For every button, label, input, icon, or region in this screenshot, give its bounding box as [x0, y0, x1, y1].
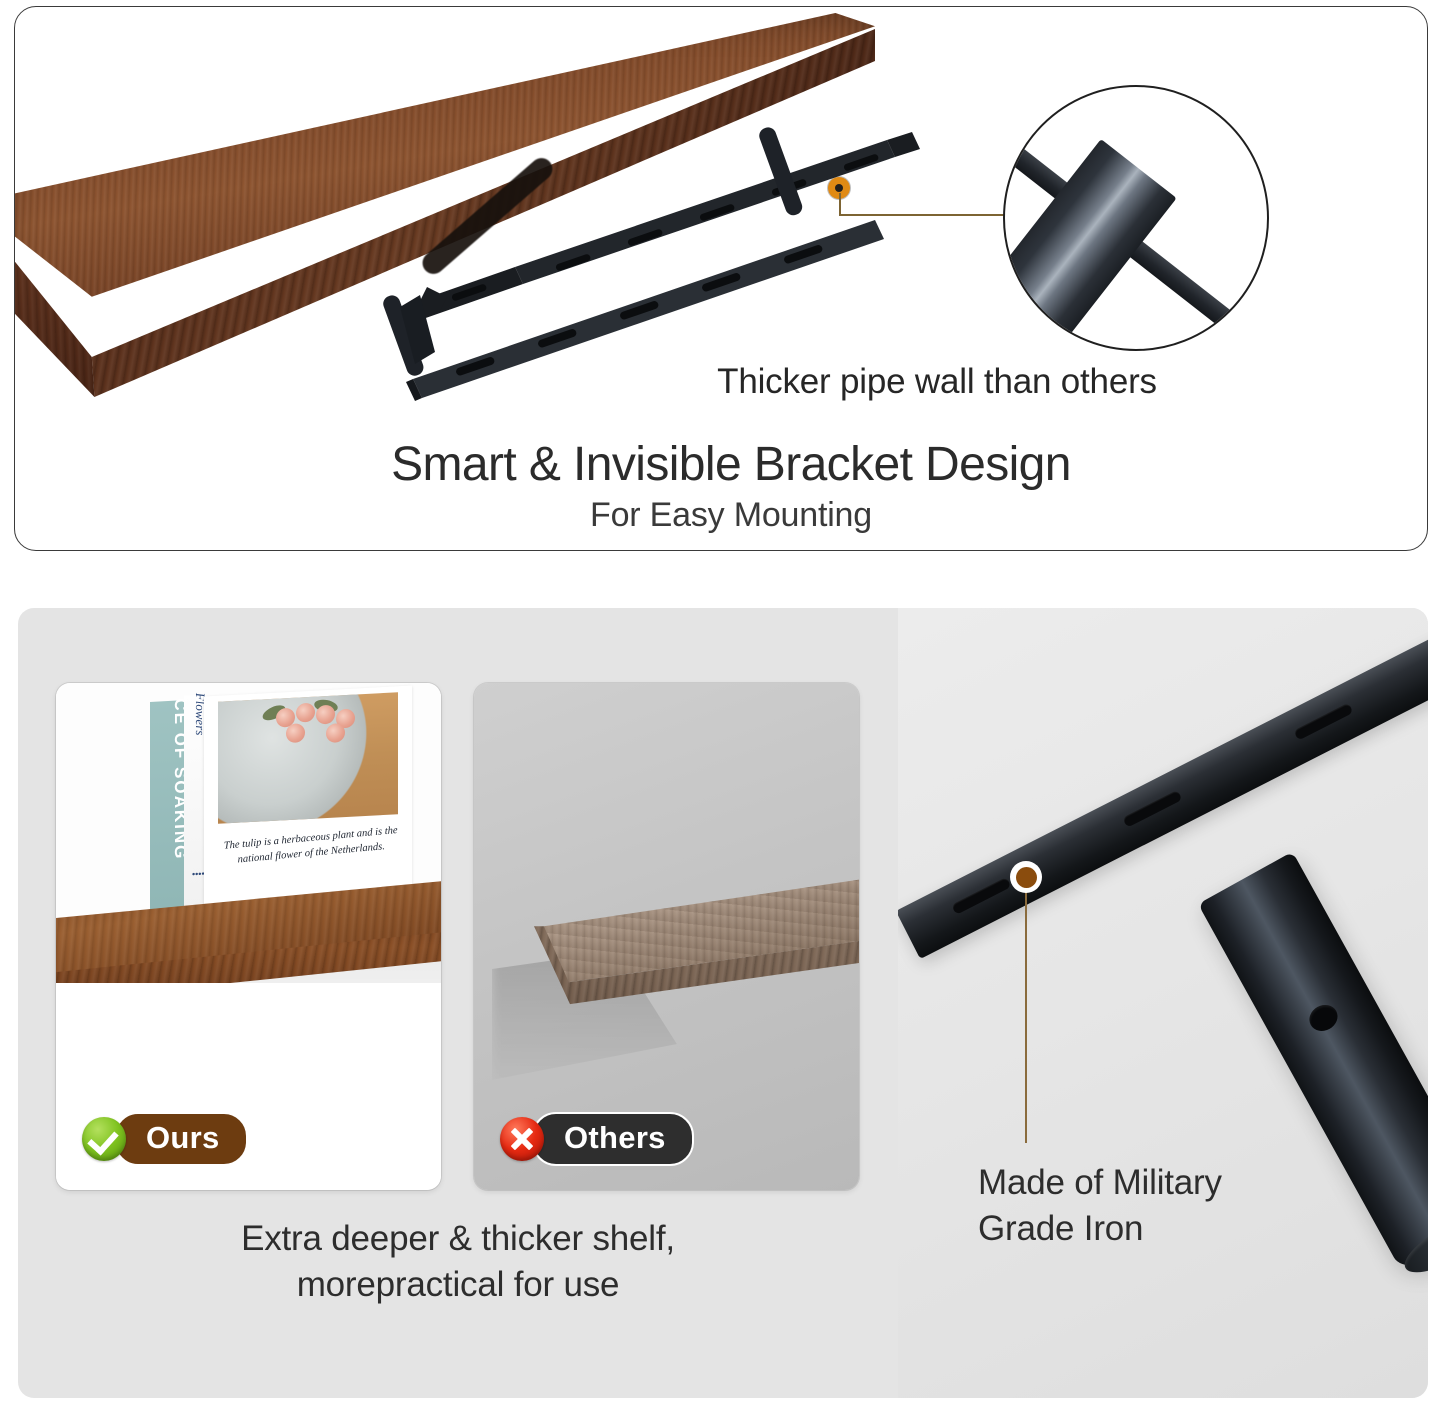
x-circle-icon	[500, 1117, 544, 1161]
comparison-panel: CE OF SOAKING Flowers •••• The tulip is …	[18, 608, 1428, 1398]
others-photo-card: Others	[474, 683, 859, 1190]
bracket-product-photo: Made of Military Grade Iron	[898, 608, 1428, 1398]
others-badge: Others	[500, 1112, 694, 1166]
others-badge-label: Others	[532, 1112, 694, 1166]
bracket-pipe-end	[1397, 1206, 1428, 1283]
ours-badge-label: Ours	[114, 1112, 248, 1166]
comparison-caption: Extra deeper & thicker shelf, morepracti…	[38, 1216, 878, 1308]
book-spine-white: Flowers ••••	[184, 694, 206, 921]
section-title: Smart & Invisible Bracket Design	[15, 437, 1428, 492]
check-circle-icon	[82, 1117, 126, 1161]
bracket-mounting-plate	[898, 629, 1428, 959]
comparison-caption-line2: morepractical for use	[38, 1262, 878, 1308]
iron-callout-line	[1025, 891, 1028, 1143]
military-grade-caption-line2: Grade Iron	[978, 1206, 1338, 1252]
military-grade-caption-line1: Made of Military	[978, 1160, 1338, 1206]
bracket-design-card: Thicker pipe wall than others Smart & In…	[14, 6, 1428, 551]
book-spine-dots: ••••	[192, 870, 205, 877]
callout-line-vertical	[839, 193, 841, 215]
bracket-slot	[1293, 703, 1353, 741]
callout-line-horizontal	[839, 214, 1006, 216]
comparison-caption-line1: Extra deeper & thicker shelf,	[38, 1216, 878, 1262]
ours-badge: Ours	[82, 1112, 248, 1166]
thicker-pipe-label: Thicker pipe wall than others	[15, 362, 1428, 402]
ours-photo-card: CE OF SOAKING Flowers •••• The tulip is …	[56, 683, 441, 1190]
book-spine-teal: CE OF SOAKING	[150, 700, 186, 922]
military-grade-caption: Made of Military Grade Iron	[978, 1160, 1338, 1252]
section-subtitle: For Easy Mounting	[15, 496, 1428, 535]
pipe-wall-zoom-inset	[1003, 85, 1269, 351]
iron-callout-dot	[1010, 861, 1042, 893]
book-cover-quote: The tulip is a herbaceous plant and is t…	[221, 823, 400, 869]
bracket-slot	[1122, 790, 1182, 828]
bracket-slot	[951, 877, 1011, 915]
book-cover-photo	[218, 692, 398, 823]
bracket-pipe-hole	[1305, 1000, 1342, 1036]
